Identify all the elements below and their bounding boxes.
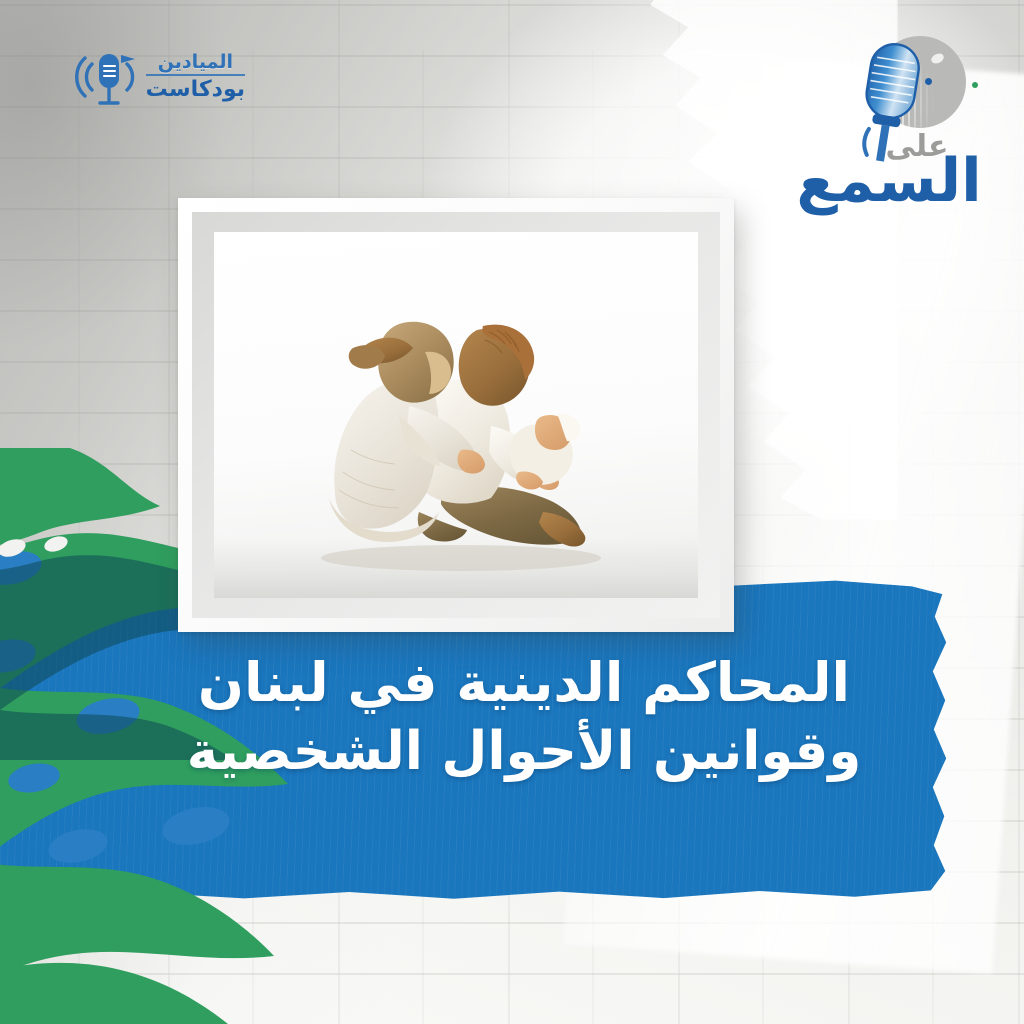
microphone-waves-icon (75, 44, 137, 110)
podcast-cover-poster: الميادين بودكاست (0, 0, 1024, 1024)
al-mayadeen-wordmark: الميادين بودكاست (146, 53, 245, 101)
episode-title: المحاكم الدينية في لبنان وقوانين الأحوال… (0, 648, 1024, 787)
al-samaa-label: السمع (796, 154, 981, 208)
wordmark-divider (146, 74, 245, 76)
green-dot-decor (972, 82, 978, 88)
title-line-2: وقوانين الأحوال الشخصية (96, 718, 952, 787)
figurine-illustration (291, 286, 621, 576)
ala-al-samaa-logo[interactable]: على السمع (784, 26, 994, 206)
al-mayadeen-label: الميادين (158, 53, 233, 72)
family-figurine-photo (214, 232, 698, 598)
al-mayadeen-podcast-logo[interactable]: الميادين بودكاست (75, 44, 245, 110)
podcast-label: بودكاست (146, 79, 245, 101)
ala-al-samaa-wordmark: على السمع (784, 133, 994, 208)
title-line-1: المحاكم الدينية في لبنان (96, 648, 952, 718)
frame-mat (192, 212, 720, 618)
photo-frame (178, 198, 734, 632)
